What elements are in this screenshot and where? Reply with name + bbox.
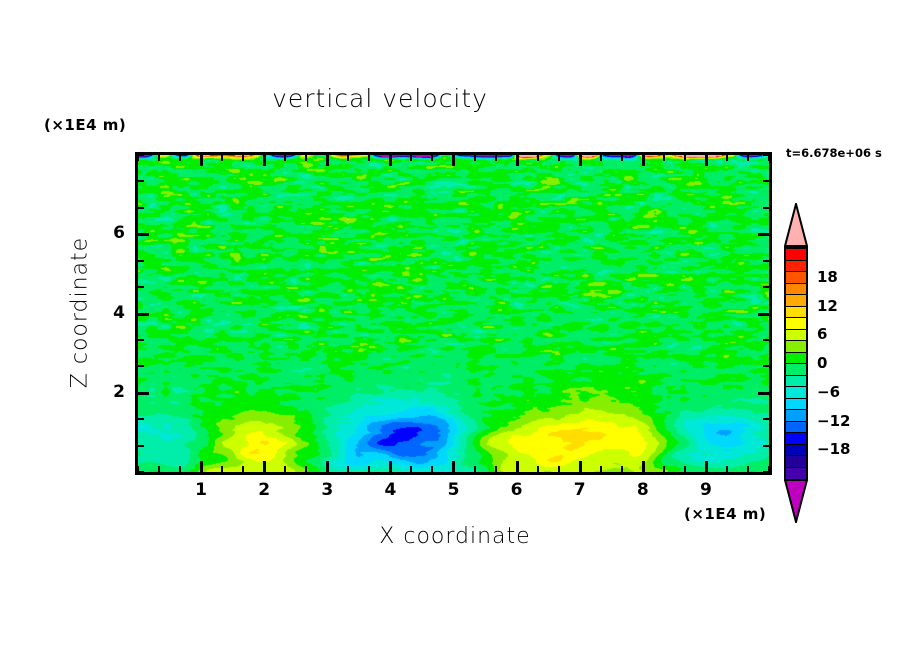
tick-mark <box>284 155 286 161</box>
tick-mark <box>537 155 539 161</box>
colorbar-tick-label: 6 <box>817 325 827 343</box>
tick-mark <box>452 155 455 166</box>
tick-mark <box>763 339 769 341</box>
tick-mark <box>452 461 455 472</box>
tick-mark <box>305 155 307 161</box>
tick-mark <box>474 466 476 472</box>
tick-mark <box>516 155 519 166</box>
x-tick-label: 7 <box>565 480 595 500</box>
tick-mark <box>138 154 144 156</box>
tick-mark <box>763 286 769 288</box>
tick-mark <box>389 155 392 166</box>
tick-mark <box>326 461 329 472</box>
colorbar-overflow-low-cap <box>784 479 808 523</box>
tick-mark <box>200 155 203 166</box>
colorbar-band <box>786 410 806 422</box>
colorbar-band <box>786 307 806 319</box>
tick-mark <box>579 155 582 166</box>
tick-mark <box>221 466 223 472</box>
tick-mark <box>305 466 307 472</box>
tick-mark <box>558 466 560 472</box>
simulation-timestamp: t=6.678e+06 s <box>786 146 882 160</box>
tick-mark <box>474 155 476 161</box>
tick-mark <box>684 466 686 472</box>
tick-mark <box>221 155 223 161</box>
tick-mark <box>410 466 412 472</box>
y-tick-label: 4 <box>95 303 125 323</box>
tick-mark <box>705 155 708 166</box>
tick-mark <box>368 466 370 472</box>
tick-mark <box>763 207 769 209</box>
tick-mark <box>138 286 144 288</box>
contour-plot-area <box>135 152 772 475</box>
tick-mark <box>747 466 749 472</box>
colorbar-band <box>786 445 806 457</box>
y-tick-label: 2 <box>95 382 125 402</box>
tick-mark <box>158 155 160 161</box>
tick-mark <box>763 260 769 262</box>
colorbar: 181260−6−12−18 <box>781 205 811 523</box>
tick-mark <box>242 466 244 472</box>
tick-mark <box>179 466 181 472</box>
colorbar-band <box>786 376 806 388</box>
tick-mark <box>138 392 149 395</box>
tick-mark <box>138 445 144 447</box>
tick-mark <box>537 466 539 472</box>
x-tick-label: 1 <box>186 480 216 500</box>
x-tick-label: 6 <box>502 480 532 500</box>
x-tick-label: 9 <box>691 480 721 500</box>
tick-mark <box>705 461 708 472</box>
tick-mark <box>179 155 181 161</box>
colorbar-band <box>786 399 806 411</box>
colorbar-band <box>786 364 806 376</box>
tick-mark <box>642 461 645 472</box>
colorbar-band <box>786 341 806 353</box>
colorbar-bands <box>784 247 808 481</box>
y-tick-label: 6 <box>95 223 125 243</box>
colorbar-band <box>786 261 806 273</box>
tick-mark <box>138 260 144 262</box>
tick-mark <box>763 154 769 156</box>
tick-mark <box>431 155 433 161</box>
tick-mark <box>621 155 623 161</box>
colorbar-overflow-high-cap <box>784 203 808 247</box>
colorbar-band <box>786 284 806 296</box>
x-tick-label: 2 <box>249 480 279 500</box>
tick-mark <box>138 471 144 473</box>
tick-mark <box>389 461 392 472</box>
tick-mark <box>138 365 144 367</box>
tick-mark <box>600 466 602 472</box>
colorbar-band <box>786 433 806 445</box>
colorbar-band <box>786 468 806 480</box>
tick-mark <box>579 461 582 472</box>
tick-mark <box>158 466 160 472</box>
tick-mark <box>516 461 519 472</box>
tick-mark <box>663 466 665 472</box>
tick-mark <box>763 418 769 420</box>
tick-mark <box>758 392 769 395</box>
x-tick-label: 4 <box>375 480 405 500</box>
colorbar-tick-label: −6 <box>817 383 840 401</box>
tick-mark <box>495 466 497 472</box>
tick-mark <box>263 461 266 472</box>
tick-mark <box>726 466 728 472</box>
colorbar-band <box>786 318 806 330</box>
tick-mark <box>663 155 665 161</box>
tick-mark <box>368 155 370 161</box>
vertical-velocity-field <box>138 155 769 472</box>
tick-mark <box>284 466 286 472</box>
colorbar-tick-label: 18 <box>817 268 838 286</box>
tick-mark <box>347 466 349 472</box>
colorbar-band <box>786 353 806 365</box>
colorbar-tick-label: −18 <box>817 440 850 458</box>
x-tick-label: 8 <box>628 480 658 500</box>
colorbar-tick-label: −12 <box>817 412 850 430</box>
tick-mark <box>763 365 769 367</box>
tick-mark <box>600 155 602 161</box>
tick-mark <box>747 155 749 161</box>
x-axis-title: X coordinate <box>245 524 665 549</box>
tick-mark <box>138 418 144 420</box>
tick-mark <box>410 155 412 161</box>
horizontal-unit-label: (×1E4 m) <box>684 505 766 523</box>
tick-mark <box>138 313 149 316</box>
tick-mark <box>242 155 244 161</box>
tick-mark <box>621 466 623 472</box>
colorbar-band <box>786 422 806 434</box>
colorbar-band <box>786 456 806 468</box>
tick-mark <box>263 155 266 166</box>
tick-mark <box>326 155 329 166</box>
vertical-unit-label: (×1E4 m) <box>44 116 126 134</box>
z-axis-title: Z coordinate <box>68 213 93 413</box>
x-tick-label: 5 <box>439 480 469 500</box>
tick-mark <box>495 155 497 161</box>
colorbar-band <box>786 330 806 342</box>
colorbar-band <box>786 387 806 399</box>
tick-mark <box>758 233 769 236</box>
colorbar-band <box>786 272 806 284</box>
tick-mark <box>642 155 645 166</box>
tick-mark <box>138 233 149 236</box>
tick-mark <box>138 207 144 209</box>
tick-mark <box>138 339 144 341</box>
colorbar-band <box>786 295 806 307</box>
tick-mark <box>431 466 433 472</box>
tick-mark <box>763 471 769 473</box>
tick-mark <box>558 155 560 161</box>
tick-mark <box>758 313 769 316</box>
colorbar-band <box>786 249 806 261</box>
tick-mark <box>726 155 728 161</box>
tick-mark <box>763 180 769 182</box>
colorbar-tick-label: 0 <box>817 354 827 372</box>
tick-mark <box>200 461 203 472</box>
colorbar-tick-label: 12 <box>817 297 838 315</box>
tick-mark <box>684 155 686 161</box>
tick-mark <box>347 155 349 161</box>
page-title: vertical velocity <box>0 84 760 113</box>
tick-mark <box>138 180 144 182</box>
tick-mark <box>763 445 769 447</box>
x-tick-label: 3 <box>312 480 342 500</box>
